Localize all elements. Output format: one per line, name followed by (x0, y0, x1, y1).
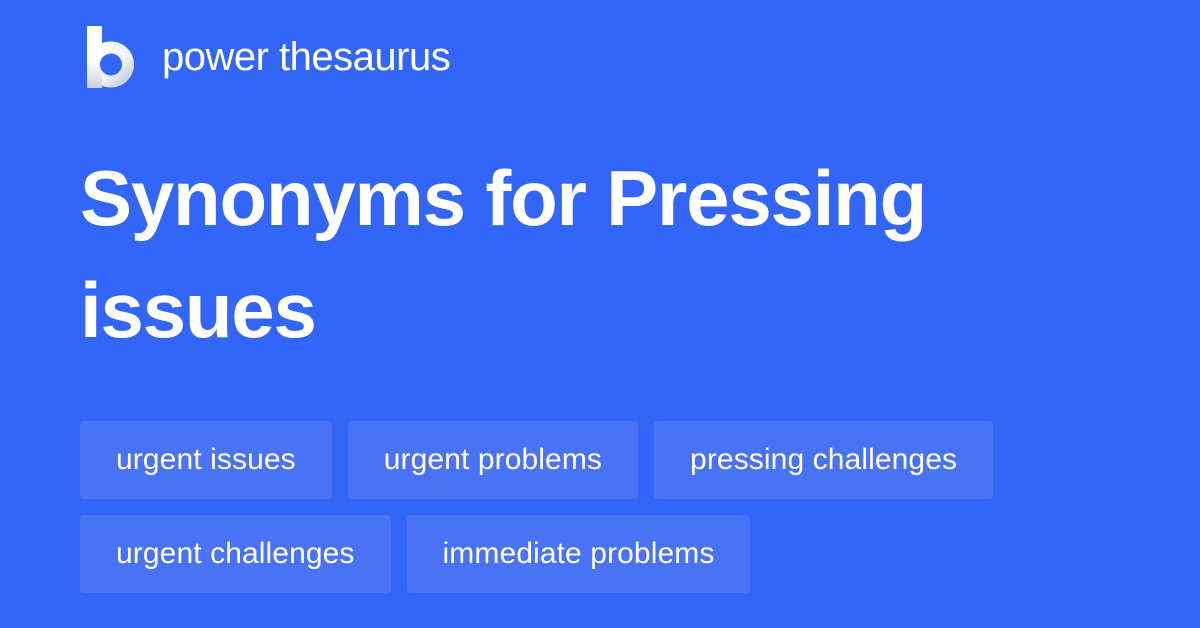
synonym-chip[interactable]: immediate problems (407, 515, 751, 593)
synonym-chip[interactable]: urgent problems (348, 421, 638, 499)
synonyms-share-card: power thesaurus Synonyms for Pressing is… (0, 0, 1200, 628)
synonym-chip[interactable]: pressing challenges (654, 421, 993, 499)
synonym-chip[interactable]: urgent issues (80, 421, 332, 499)
synonym-chip-list: urgent issues urgent problems pressing c… (80, 421, 1120, 593)
page-title: Synonyms for Pressing issues (80, 142, 1080, 366)
brand-header[interactable]: power thesaurus (80, 26, 450, 88)
power-thesaurus-b-logo-icon (80, 26, 138, 88)
brand-name: power thesaurus (162, 37, 450, 77)
synonym-chip[interactable]: urgent challenges (80, 515, 391, 593)
